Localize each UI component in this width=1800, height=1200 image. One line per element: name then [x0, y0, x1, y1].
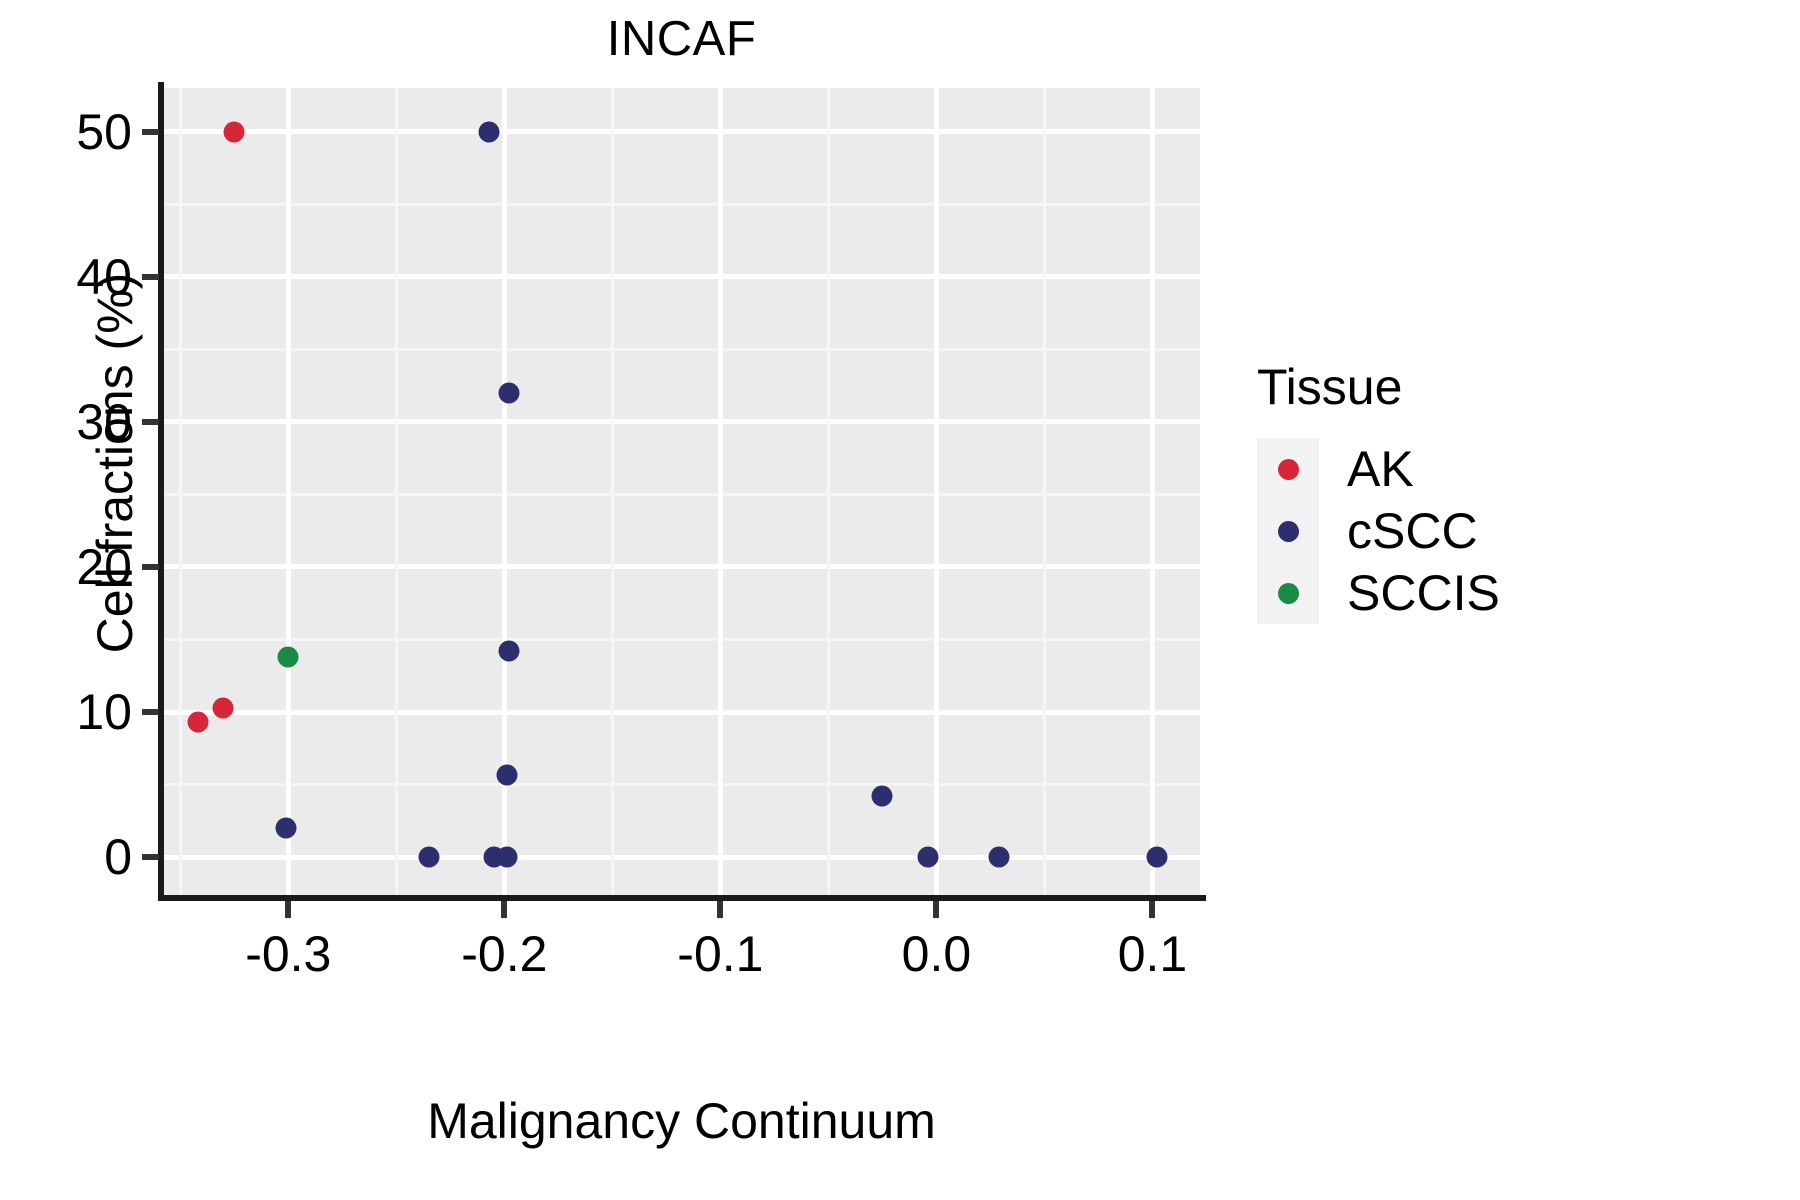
data-point [278, 646, 299, 667]
data-point [418, 847, 439, 868]
page-title: INCAF [163, 8, 1200, 70]
legend-item-label: SCCIS [1347, 565, 1500, 621]
y-tick-label: 20 [76, 542, 132, 592]
x-tick-label: -0.3 [245, 926, 331, 982]
data-point [213, 697, 234, 718]
x-tick-label: -0.1 [677, 926, 763, 982]
gridline-vertical [179, 88, 182, 895]
y-tick-mark [142, 854, 159, 860]
legend-key-swatch [1257, 438, 1319, 500]
y-tick-mark [142, 274, 159, 280]
y-axis-line [158, 82, 164, 901]
gridline-vertical [611, 88, 614, 895]
data-point [276, 818, 297, 839]
legend-dot-icon [1278, 583, 1299, 604]
x-tick-mark [285, 901, 291, 918]
data-point [989, 847, 1010, 868]
y-tick-label: 10 [76, 687, 132, 737]
gridline-vertical [718, 88, 723, 895]
data-point [496, 847, 517, 868]
data-point [1146, 847, 1167, 868]
gridline-vertical [1043, 88, 1046, 895]
y-tick-mark [142, 419, 159, 425]
legend-item-label: cSCC [1347, 503, 1478, 559]
gridline-vertical [395, 88, 398, 895]
x-tick-mark [501, 901, 507, 918]
x-tick-label: 0.1 [1118, 926, 1188, 982]
data-point [224, 121, 245, 142]
data-point [496, 764, 517, 785]
legend-dot-icon [1278, 521, 1299, 542]
data-point [479, 121, 500, 142]
y-axis-title: Cell fractions (%) [87, 48, 143, 878]
legend: Tissue AKcSCCSCCIS [1257, 358, 1677, 624]
legend-item-cscc[interactable]: cSCC [1257, 500, 1677, 562]
legend-items: AKcSCCSCCIS [1257, 438, 1677, 624]
x-tick-mark [1149, 901, 1155, 918]
y-tick-mark [142, 564, 159, 570]
y-tick-label: 30 [76, 397, 132, 447]
data-point [187, 712, 208, 733]
x-tick-mark [717, 901, 723, 918]
data-point [498, 641, 519, 662]
gridline-vertical [286, 88, 291, 895]
data-point [872, 786, 893, 807]
x-axis-line [158, 895, 1206, 901]
x-axis-title: Malignancy Continuum [163, 1092, 1200, 1150]
x-tick-label: -0.2 [461, 926, 547, 982]
legend-key-swatch [1257, 500, 1319, 562]
plot-panel [163, 88, 1200, 895]
y-tick-mark [142, 709, 159, 715]
legend-item-label: AK [1347, 441, 1414, 497]
x-tick-label: 0.0 [902, 926, 972, 982]
legend-dot-icon [1278, 459, 1299, 480]
x-tick-mark [933, 901, 939, 918]
legend-item-sccis[interactable]: SCCIS [1257, 562, 1677, 624]
legend-item-ak[interactable]: AK [1257, 438, 1677, 500]
legend-key-swatch [1257, 562, 1319, 624]
gridline-vertical [1150, 88, 1155, 895]
legend-title: Tissue [1257, 358, 1677, 416]
y-tick-mark [142, 129, 159, 135]
gridline-vertical [934, 88, 939, 895]
scatter-plot-figure: INCAF Cell fractions (%) Malignancy Cont… [0, 0, 1800, 1200]
data-point [917, 847, 938, 868]
gridline-vertical [827, 88, 830, 895]
y-tick-label: 40 [76, 252, 132, 302]
y-tick-label: 0 [104, 832, 132, 882]
y-tick-label: 50 [76, 107, 132, 157]
data-point [498, 382, 519, 403]
